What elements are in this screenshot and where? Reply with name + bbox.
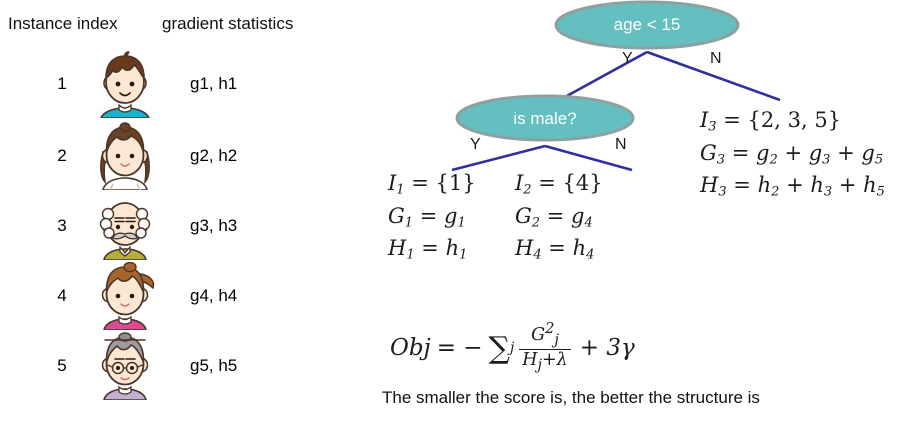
table-row: 3 g3, h3 [0,190,360,262]
leaf-2-gradient-sum: G2 = g4 [515,201,603,234]
gradient-statistics-value: g5, h5 [190,356,237,376]
fraction-denominator: Hj+λ [519,349,570,373]
edge-label-root-yes: Y [622,50,633,68]
objective-fraction: G2j Hj+λ [519,321,570,372]
objective-lhs: Obj [390,335,431,361]
objective-equals-minus: = − [437,335,483,361]
instance-index-value: 5 [50,356,74,376]
instance-table-panel: Instance index gradient statistics 1 g1,… [0,0,360,421]
leaf-1-statistics: I1 = {1} G1 = g1 H1 = h1 [388,168,476,266]
leaf-2-instance-set: I2 = {4} [515,168,603,201]
tree-node-root-label: age < 15 [556,15,738,35]
edge-is-male-to-leaf1 [452,146,545,170]
tree-node-is-male-label: is male? [457,109,633,129]
gradient-statistics-value: g3, h3 [190,216,237,236]
instance-index-value: 1 [50,74,74,94]
leaf-3-statistics: I3 = {2, 3, 5} G3 = g2 + g3 + g5 H3 = h2… [700,105,885,203]
edge-label-is-male-yes: Y [470,136,481,154]
table-row: 5 g5, h5 [0,330,360,402]
summation-symbol: ∑ [489,331,510,366]
table-row: 4 g4, h4 [0,260,360,332]
objective-tail: + 3γ [580,335,635,361]
leaf-2-hessian-sum: H4 = h4 [515,233,603,266]
caption-text: The smaller the score is, the better the… [382,388,760,408]
fraction-numerator: G2j [528,321,562,349]
leaf-1-hessian-sum: H1 = h1 [388,233,476,266]
table-row: 2 g2, h2 [0,120,360,192]
girl-ponytail-pink-icon [93,262,157,330]
boy-teal-shirt-icon [93,50,157,118]
column-header-gradient-statistics: gradient statistics [162,14,293,34]
table-row: 1 g1, h1 [0,48,360,120]
decision-tree-panel: age < 15 is male? Y N Y N I1 = {1} G1 = … [360,0,920,421]
leaf-1-instance-set: I1 = {1} [388,168,476,201]
leaf-3-hessian-sum: H3 = h2 + h3 + h5 [700,170,885,203]
objective-formula: Obj = − ∑j G2j Hj+λ + 3γ [390,322,635,373]
instance-index-value: 4 [50,286,74,306]
girl-brown-hair-icon [93,122,157,190]
instance-index-value: 3 [50,216,74,236]
gradient-statistics-value: g4, h4 [190,286,237,306]
gradient-statistics-value: g2, h2 [190,146,237,166]
edge-label-root-no: N [710,50,722,68]
leaf-2-statistics: I2 = {4} G2 = g4 H4 = h4 [515,168,603,266]
edge-root-to-is-male [565,52,647,97]
leaf-3-gradient-sum: G3 = g2 + g3 + g5 [700,138,885,171]
leaf-1-gradient-sum: G1 = g1 [388,201,476,234]
old-woman-gray-hair-icon [93,332,157,400]
instance-index-value: 2 [50,146,74,166]
old-man-mustache-icon [93,192,157,260]
summation-index: j [510,340,514,356]
edge-label-is-male-no: N [615,136,627,154]
leaf-3-instance-set: I3 = {2, 3, 5} [700,105,885,138]
gradient-statistics-value: g1, h1 [190,74,237,94]
column-header-instance-index: Instance index [8,14,118,34]
